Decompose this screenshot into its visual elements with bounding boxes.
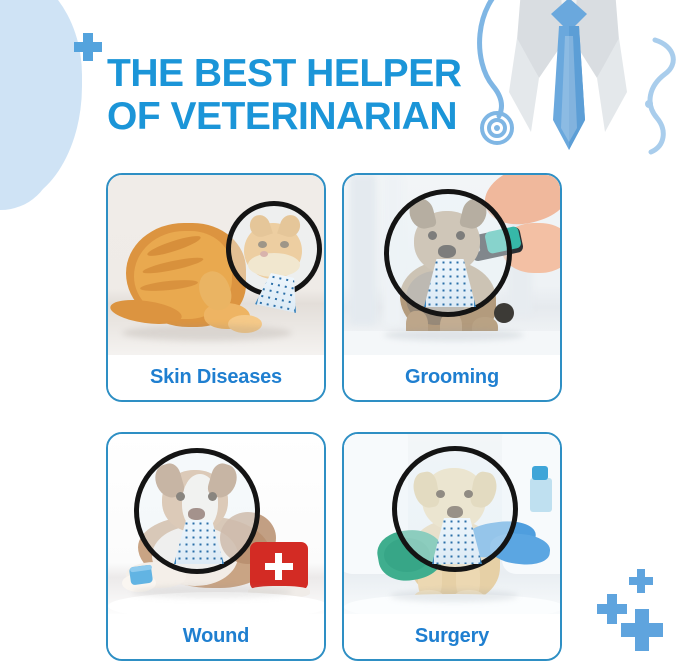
header: THE BEST HELPER OF VETERINARIAN [0, 0, 679, 172]
plus-accent-icon [74, 33, 102, 61]
feature-card-grooming[interactable]: Grooming [342, 173, 562, 402]
feature-card-skin-diseases[interactable]: Skin Diseases [106, 173, 326, 402]
feature-card-surgery[interactable]: Surgery [342, 432, 562, 661]
card-photo-surgery [344, 434, 560, 618]
card-label-wound: Wound [108, 614, 324, 659]
card-label-grooming: Grooming [344, 355, 560, 400]
card-photo-wound [108, 434, 324, 618]
card-photo-skin-diseases [108, 175, 324, 359]
feature-card-wound[interactable]: Wound [106, 432, 326, 661]
infographic-page: THE BEST HELPER OF VETERINARIAN [0, 0, 679, 669]
card-photo-grooming [344, 175, 560, 359]
doctor-coat-graphic [469, 0, 679, 178]
card-label-surgery: Surgery [344, 614, 560, 659]
cross-icon-large [621, 609, 663, 651]
page-title: THE BEST HELPER OF VETERINARIAN [107, 52, 527, 138]
card-label-skin-diseases: Skin Diseases [108, 355, 324, 400]
feature-card-grid: Skin Diseases [106, 173, 572, 661]
first-aid-kit-icon [250, 542, 308, 590]
cross-icon-small [629, 569, 653, 593]
